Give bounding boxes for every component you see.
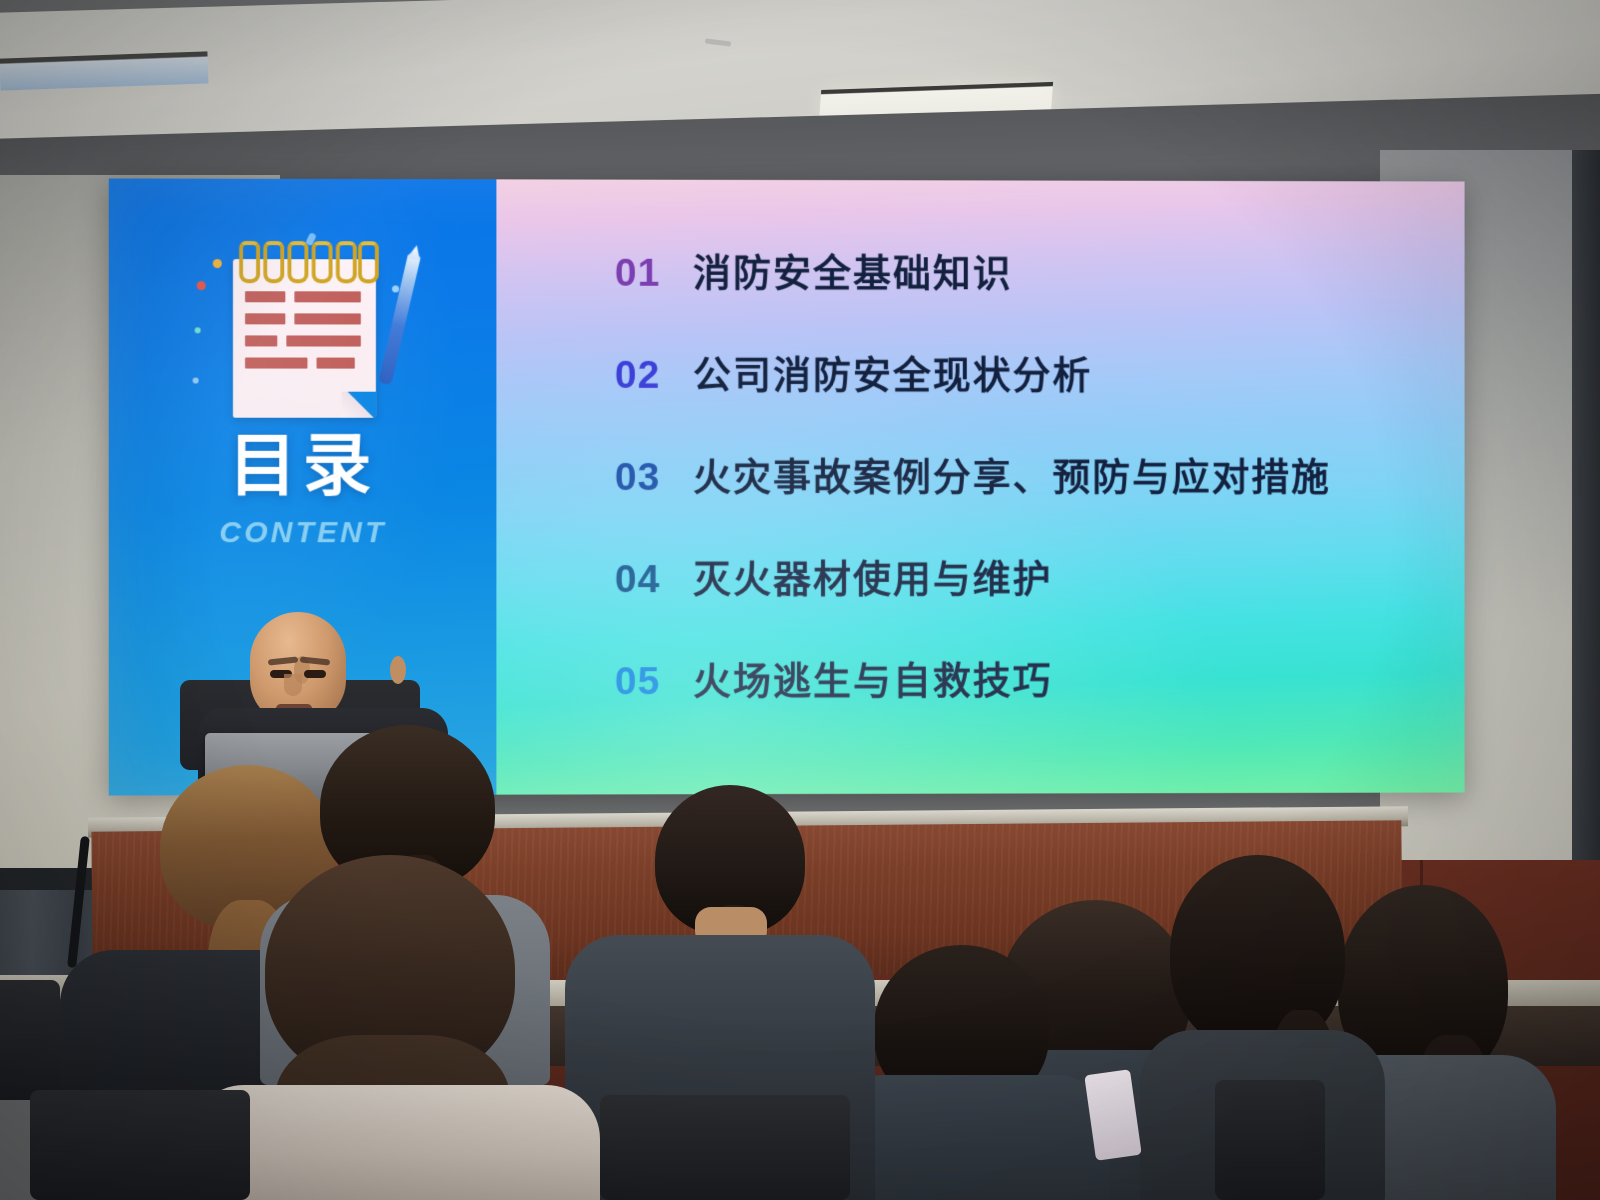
toc-label: 火灾事故案例分享、预防与应对措施: [693, 446, 1331, 501]
chair: [600, 1095, 850, 1200]
toc-label: 火场逃生与自救技巧: [693, 650, 1053, 705]
list-item: 02 公司消防安全现状分析: [615, 344, 1435, 400]
toc-label: 公司消防安全现状分析: [693, 344, 1092, 399]
sparkle-dot: [212, 259, 221, 268]
presenter-nose: [284, 674, 302, 696]
slide-title: 目录: [109, 432, 497, 500]
toc-number: 03: [615, 456, 693, 500]
notepad-text-lines: [245, 291, 364, 379]
sparkle-dot: [196, 281, 205, 290]
attendee-left-short-hair: [840, 945, 1100, 1200]
notepad-paper: [233, 259, 376, 418]
toc-number: 02: [615, 354, 693, 398]
chair: [30, 1090, 250, 1200]
sparkle-dot: [392, 285, 399, 292]
toc-number: 01: [615, 252, 693, 296]
sparkle-dot: [305, 232, 316, 246]
sparkle-dot: [194, 327, 200, 333]
toc-label: 灭火器材使用与维护: [693, 548, 1053, 603]
toc-number: 04: [615, 558, 693, 602]
notepad-rings: [237, 241, 374, 277]
chair: [1215, 1080, 1325, 1200]
notepad-icon: [220, 237, 399, 424]
lecture-room-photo: 目录 CONTENT 01 消防安全基础知识 02 公司消防安全现状分析 03: [0, 0, 1600, 1200]
slide-subtitle: CONTENT: [109, 516, 497, 550]
list-item: 01 消防安全基础知识: [615, 242, 1435, 298]
toc-number: 05: [615, 660, 693, 704]
slide-content-panel: 01 消防安全基础知识 02 公司消防安全现状分析 03 火灾事故案例分享、预防…: [497, 179, 1465, 794]
list-item: 05 火场逃生与自救技巧: [615, 649, 1435, 705]
table-of-contents: 01 消防安全基础知识 02 公司消防安全现状分析 03 火灾事故案例分享、预防…: [615, 242, 1435, 753]
chair: [0, 980, 60, 1100]
list-item: 03 火灾事故案例分享、预防与应对措施: [615, 446, 1435, 501]
toc-label: 消防安全基础知识: [693, 242, 1013, 297]
wall-right-shadow: [1572, 150, 1600, 910]
pen-icon: [378, 254, 421, 386]
sparkle-dot: [192, 378, 198, 384]
list-item: 04 灭火器材使用与维护: [615, 548, 1435, 603]
